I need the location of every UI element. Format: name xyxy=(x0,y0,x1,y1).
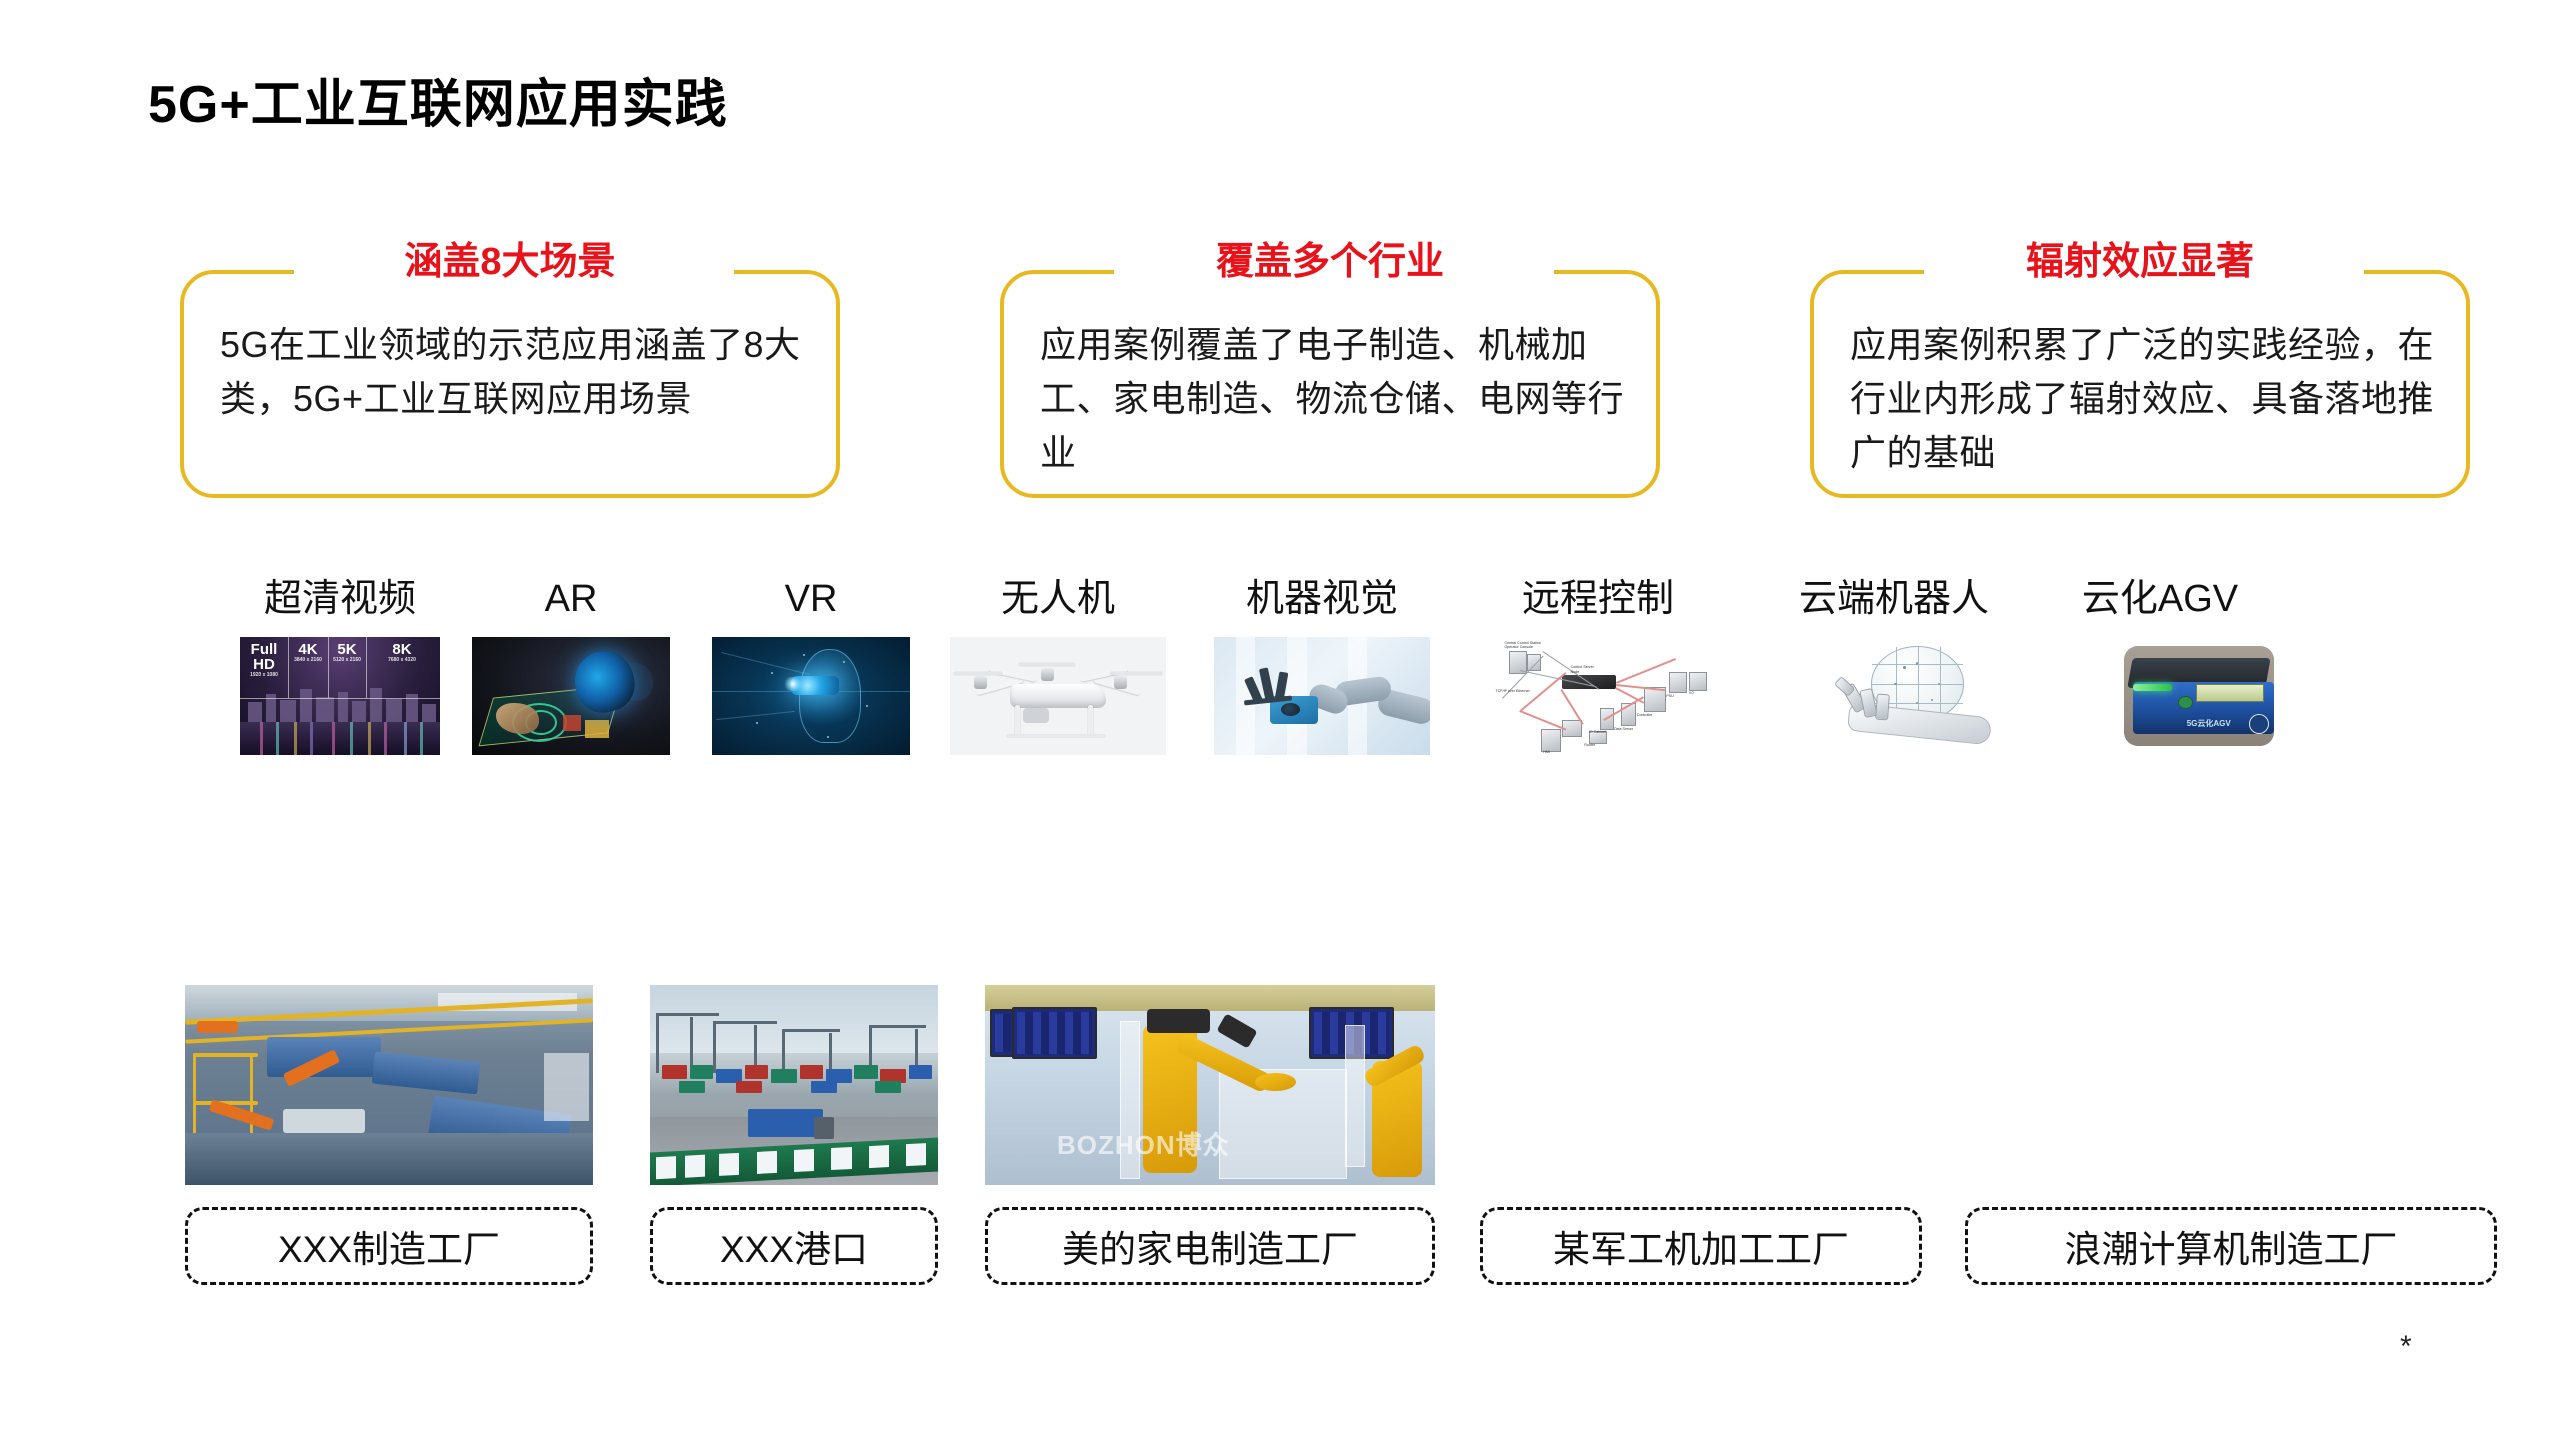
resolution-size-4k: 3840 x 2160 xyxy=(290,657,326,664)
case-label: 美的家电制造工厂 xyxy=(985,1207,1435,1285)
case-item-xxx-factory: XXX制造工厂 xyxy=(185,985,593,1285)
case-item-xxx-port: XXX港口 xyxy=(650,985,938,1285)
case-label: 浪潮计算机制造工厂 xyxy=(1965,1207,2497,1285)
highlight-card-scenarios: 涵盖8大场景 5G在工业领域的示范应用涵盖了8大类，5G+工业互联网应用场景 xyxy=(180,270,840,498)
scenario-item-agv: 云化AGV 5G云化AGV xyxy=(2046,575,2274,755)
resolution-size-5k: 5120 x 2160 xyxy=(330,657,364,664)
vr-wireframe-head-thumbnail xyxy=(712,637,910,755)
case-label: XXX港口 xyxy=(650,1207,938,1285)
resolution-label-8k: 8K xyxy=(368,642,436,657)
machine-vision-robot-arm-thumbnail xyxy=(1214,637,1430,755)
scenario-label: 云化AGV xyxy=(2046,575,2274,623)
resolution-size-fullhd: 1920 x 1080 xyxy=(242,672,286,679)
case-item-midea-factory: BOZHON博众 美的家电制造工厂 xyxy=(985,985,1435,1285)
case-item-military-factory: 某军工机加工工厂 xyxy=(1480,1207,1922,1285)
highlight-card-title: 涵盖8大场景 xyxy=(184,240,836,284)
resolution-label-4k: 4K xyxy=(290,642,326,657)
highlight-card-body: 应用案例积累了广泛的实践经验，在行业内形成了辐射效应、具备落地推广的基础 xyxy=(1850,318,2440,480)
scenario-item-ar: AR xyxy=(472,575,670,755)
scenario-item-drone: 无人机 xyxy=(950,575,1166,755)
scenario-strip: 超清视频 xyxy=(0,575,2560,785)
case-label: XXX制造工厂 xyxy=(185,1207,593,1285)
highlight-card-radiation: 辐射效应显著 应用案例积累了广泛的实践经验，在行业内形成了辐射效应、具备落地推广… xyxy=(1810,270,2470,498)
scenario-label: VR xyxy=(712,575,910,623)
highlight-card-title: 覆盖多个行业 xyxy=(1004,240,1656,284)
uhd-video-thumbnail: Full HD 1920 x 1080 4K 3840 x 2160 5K 51… xyxy=(240,637,440,755)
scenario-label: 超清视频 xyxy=(240,575,440,623)
highlight-card-industries: 覆盖多个行业 应用案例覆盖了电子制造、机械加工、家电制造、物流仓储、电网等行业 xyxy=(1000,270,1660,498)
page-title: 5G+工业互联网应用实践 xyxy=(148,62,728,137)
scenario-label: 远程控制 xyxy=(1484,575,1712,623)
drone-thumbnail xyxy=(950,637,1166,755)
scenario-label: 机器视觉 xyxy=(1214,575,1430,623)
ar-headset-thumbnail xyxy=(472,637,670,755)
highlight-card-title: 辐射效应显著 xyxy=(1814,240,2466,284)
scenario-label: 无人机 xyxy=(950,575,1166,623)
scenario-item-uhd-video: 超清视频 xyxy=(240,575,440,755)
highlight-cards-row: 涵盖8大场景 5G在工业领域的示范应用涵盖了8大类，5G+工业互联网应用场景 覆… xyxy=(0,218,2560,518)
scenario-item-remote-control: 远程控制 Central Control StationOperator Con… xyxy=(1484,575,1712,755)
scenario-item-machine-vision: 机器视觉 xyxy=(1214,575,1430,755)
case-item-inspur-factory: 浪潮计算机制造工厂 xyxy=(1965,1207,2497,1285)
highlight-card-body: 应用案例覆盖了电子制造、机械加工、家电制造、物流仓储、电网等行业 xyxy=(1040,318,1630,480)
factory-production-line-photo xyxy=(185,985,593,1185)
network-topology-diagram-thumbnail: Central Control StationOperator Console … xyxy=(1484,637,1712,755)
resolution-size-8k: 7680 x 4320 xyxy=(368,657,436,664)
highlight-card-body: 5G在工业领域的示范应用涵盖了8大类，5G+工业互联网应用场景 xyxy=(220,318,810,426)
case-row: XXX制造工厂 xyxy=(0,985,2560,1345)
scenario-item-cloud-robot: 云端机器人 xyxy=(1780,575,2008,755)
container-port-photo xyxy=(650,985,938,1185)
midea-robot-assembly-photo: BOZHON博众 xyxy=(985,985,1435,1185)
footer-asterisk: * xyxy=(2400,1330,2412,1364)
photo-watermark: BOZHON博众 xyxy=(1057,1125,1230,1162)
case-label: 某军工机加工工厂 xyxy=(1480,1207,1922,1285)
scenario-label: 云端机器人 xyxy=(1780,575,2008,623)
robot-hand-sphere-thumbnail xyxy=(1780,637,2008,755)
scenario-label: AR xyxy=(472,575,670,623)
resolution-label-5k: 5K xyxy=(330,642,364,657)
scenario-item-vr: VR xyxy=(712,575,910,755)
agv-robot-thumbnail: 5G云化AGV xyxy=(2046,637,2274,755)
resolution-label-fullhd: Full HD xyxy=(242,642,286,672)
agv-body-text: 5G云化AGV xyxy=(2187,718,2231,729)
